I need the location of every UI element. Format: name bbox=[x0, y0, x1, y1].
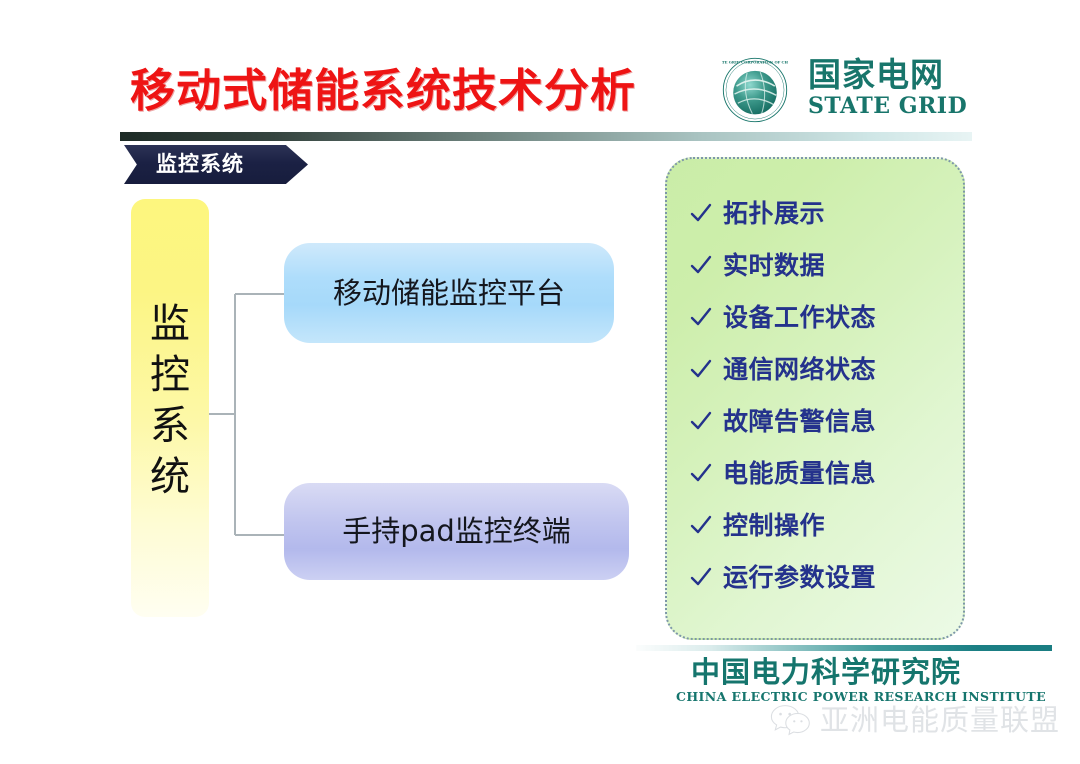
state-grid-globe-icon: STATE GRID CORPORATION OF CHINA bbox=[722, 57, 788, 123]
check-icon bbox=[689, 305, 713, 329]
diagram-root-char-0: 监 bbox=[131, 299, 209, 350]
check-icon bbox=[689, 565, 713, 589]
watermark: 亚洲电能质量联盟 bbox=[770, 703, 1060, 737]
feature-panel: 拓扑展示 实时数据 设备工作状态 通信网络状态 bbox=[665, 157, 965, 640]
header-divider bbox=[120, 132, 972, 141]
feature-list: 拓扑展示 实时数据 设备工作状态 通信网络状态 bbox=[667, 187, 963, 603]
diagram-root-char-1: 控 bbox=[131, 350, 209, 401]
feature-label: 控制操作 bbox=[723, 513, 825, 538]
list-item[interactable]: 控制操作 bbox=[667, 499, 963, 551]
diagram-root-label: 监 控 系 统 bbox=[131, 299, 209, 503]
institute-footer: 中国电力科学研究院 CHINA ELECTRIC POWER RESEARCH … bbox=[676, 655, 976, 705]
diagram-root-char-2: 系 bbox=[131, 401, 209, 452]
feature-label: 通信网络状态 bbox=[723, 357, 876, 382]
list-item[interactable]: 通信网络状态 bbox=[667, 343, 963, 395]
section-banner: 监控系统 bbox=[124, 145, 308, 184]
state-grid-logo-text: 国家电网 STATE GRID bbox=[808, 57, 973, 119]
diagram-node-platform[interactable]: 移动储能监控平台 bbox=[284, 243, 614, 343]
feature-label: 故障告警信息 bbox=[723, 409, 876, 434]
check-icon bbox=[689, 253, 713, 277]
check-icon bbox=[689, 409, 713, 433]
section-banner-label: 监控系统 bbox=[124, 145, 276, 184]
check-icon bbox=[689, 461, 713, 485]
feature-label: 电能质量信息 bbox=[723, 461, 876, 486]
state-grid-name-en: STATE GRID bbox=[808, 93, 973, 119]
feature-label: 运行参数设置 bbox=[723, 565, 876, 590]
check-icon bbox=[689, 201, 713, 225]
wechat-icon bbox=[770, 703, 812, 737]
check-icon bbox=[689, 357, 713, 381]
list-item[interactable]: 电能质量信息 bbox=[667, 447, 963, 499]
list-item[interactable]: 故障告警信息 bbox=[667, 395, 963, 447]
institute-name-cn: 中国电力科学研究院 bbox=[676, 655, 976, 689]
check-icon bbox=[689, 513, 713, 537]
state-grid-logo: STATE GRID CORPORATION OF CHINA 国家电网 STA… bbox=[722, 57, 972, 125]
state-grid-name-cn: 国家电网 bbox=[808, 57, 973, 93]
diagram-root-box: 监 控 系 统 bbox=[131, 199, 209, 617]
feature-label: 拓扑展示 bbox=[723, 201, 825, 226]
footer-divider bbox=[636, 645, 1052, 651]
svg-text:STATE GRID CORPORATION OF CHIN: STATE GRID CORPORATION OF CHINA bbox=[722, 61, 788, 65]
diagram-node-pad-terminal[interactable]: 手持pad监控终端 bbox=[284, 483, 629, 580]
watermark-text: 亚洲电能质量联盟 bbox=[820, 706, 1060, 735]
diagram-root-char-3: 统 bbox=[131, 452, 209, 503]
list-item[interactable]: 设备工作状态 bbox=[667, 291, 963, 343]
list-item[interactable]: 实时数据 bbox=[667, 239, 963, 291]
list-item[interactable]: 拓扑展示 bbox=[667, 187, 963, 239]
list-item[interactable]: 运行参数设置 bbox=[667, 551, 963, 603]
feature-label: 设备工作状态 bbox=[723, 305, 876, 330]
feature-label: 实时数据 bbox=[723, 253, 825, 278]
page-title: 移动式储能系统技术分析 bbox=[130, 68, 636, 113]
diagram-connector bbox=[209, 292, 287, 537]
slide-canvas: 移动式储能系统技术分析 STATE GRID CORPORATION OF CH… bbox=[0, 0, 1080, 764]
